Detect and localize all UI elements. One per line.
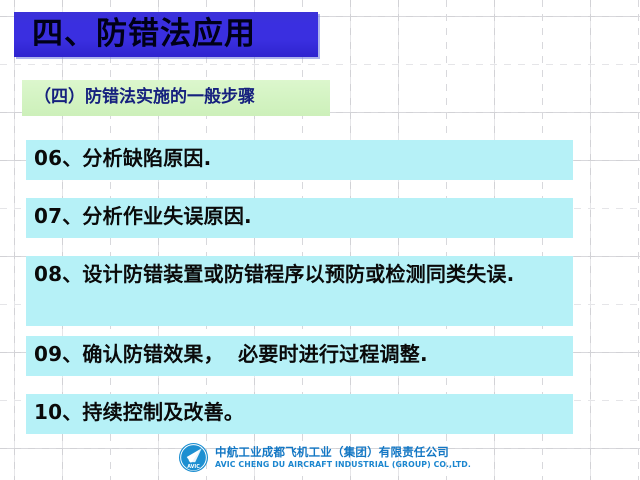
step-item-06: 06、分析缺陷原因. bbox=[26, 140, 573, 180]
slide-title-bar: 四、防错法应用 bbox=[14, 12, 318, 57]
step-text: 06、分析缺陷原因. bbox=[34, 144, 567, 173]
presentation-slide: 四、防错法应用 （四）防错法实施的一般步骤 06、分析缺陷原因. 07、分析作业… bbox=[0, 0, 640, 480]
step-text: 07、分析作业失误原因. bbox=[34, 202, 567, 231]
step-item-09: 09、确认防错效果， 必要时进行过程调整. bbox=[26, 336, 573, 376]
footer-branding: AVIC 中航工业成都飞机工业（集团）有限责任公司 AVIC CHENG DU … bbox=[178, 441, 478, 474]
step-item-08: 08、设计防错装置或防错程序以预防或检测同类失误. bbox=[26, 256, 573, 326]
step-item-07: 07、分析作业失误原因. bbox=[26, 198, 573, 238]
step-text: 09、确认防错效果， 必要时进行过程调整. bbox=[34, 340, 567, 369]
slide-subtitle: （四）防错法实施的一般步骤 bbox=[34, 89, 255, 106]
step-text: 08、设计防错装置或防错程序以预防或检测同类失误. bbox=[34, 260, 567, 289]
step-text: 10、持续控制及改善。 bbox=[34, 398, 567, 427]
company-name-cn: 中航工业成都飞机工业（集团）有限责任公司 bbox=[215, 445, 471, 459]
page-title: 四、防错法应用 bbox=[32, 18, 256, 49]
slide-subtitle-box: （四）防错法实施的一般步骤 bbox=[22, 80, 330, 116]
step-item-10: 10、持续控制及改善。 bbox=[26, 394, 573, 434]
svg-text:AVIC: AVIC bbox=[187, 464, 200, 470]
footer-text-block: 中航工业成都飞机工业（集团）有限责任公司 AVIC CHENG DU AIRCR… bbox=[215, 445, 471, 470]
avic-logo-icon: AVIC bbox=[178, 442, 209, 473]
company-name-en: AVIC CHENG DU AIRCRAFT INDUSTRIAL (GROUP… bbox=[215, 459, 471, 470]
